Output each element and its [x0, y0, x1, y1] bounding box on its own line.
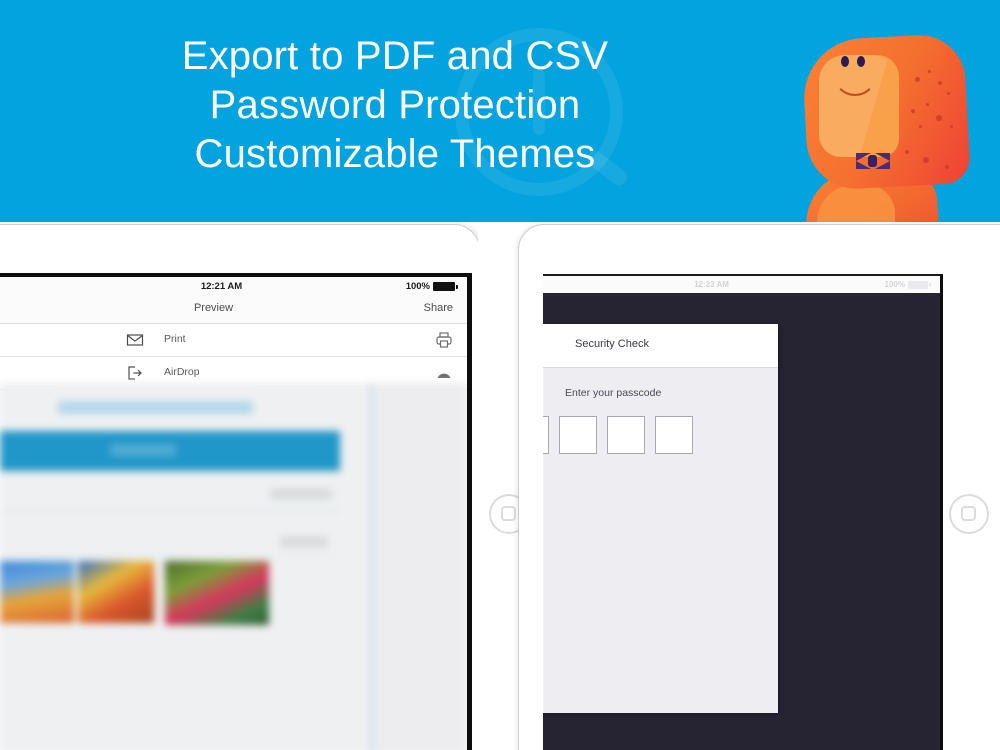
mascot-right-eye-icon [857, 56, 865, 67]
document-cell-chip [270, 489, 332, 499]
share-row-print[interactable]: Print [0, 324, 467, 357]
mascot-freckle [938, 81, 942, 85]
device-gap [478, 224, 518, 750]
document-sheet [0, 383, 373, 750]
airdrop-icon [435, 364, 453, 382]
banner-headline: Export to PDF and CSV Password Protectio… [0, 32, 790, 179]
right-status-battery: 100% [885, 280, 928, 289]
mascot-freckle [947, 92, 950, 95]
page-title: Preview [0, 302, 427, 314]
mascot-freckle [950, 125, 953, 128]
export-arrow-icon [126, 364, 144, 382]
security-check-dialog: Security Check Enter your passcode [543, 324, 778, 713]
photo-thumbnail [0, 561, 74, 623]
document-preview[interactable] [0, 383, 467, 750]
mascot-freckle [915, 77, 920, 82]
mascot-freckle [919, 125, 922, 128]
right-status-time: 12:23 AM [543, 280, 880, 289]
photo-thumbnail [165, 561, 269, 625]
share-button[interactable]: Share [424, 302, 453, 314]
dialog-header: Security Check [543, 324, 778, 368]
left-battery-percent: 100% [406, 281, 430, 292]
share-row-label: AirDrop [164, 366, 200, 378]
banner-line-2: Password Protection [0, 81, 790, 130]
mascot-left-eye-icon [841, 56, 849, 67]
banner-line-3: Customizable Themes [0, 130, 790, 179]
passcode-prompt: Enter your passcode [565, 387, 661, 399]
passcode-digit-1[interactable] [543, 416, 549, 454]
right-tablet-screen: 12:23 AM 100% Security Check Enter your … [543, 274, 943, 750]
document-row-divider [0, 513, 340, 514]
passcode-input-group[interactable] [543, 416, 693, 454]
mascot-freckle [911, 109, 915, 113]
printer-icon [435, 331, 453, 349]
left-nav-bar: Preview Share [0, 296, 467, 324]
battery-full-icon [433, 282, 455, 291]
right-status-bar: 12:23 AM 100% [543, 276, 940, 293]
feature-banner: Export to PDF and CSV Password Protectio… [0, 0, 1000, 222]
mascot-bowtie-knot [868, 155, 877, 167]
mascot-face [819, 55, 899, 157]
mascot-freckle [926, 103, 929, 106]
left-status-time: 12:21 AM [0, 281, 443, 292]
mascot-freckle [936, 115, 942, 121]
mascot-freckle [928, 70, 931, 73]
document-header-band [0, 431, 340, 471]
mascot-freckle [923, 157, 929, 163]
document-cell-chip [280, 537, 328, 547]
left-tablet-screen: 12:21 AM 100% Preview Share Print [0, 273, 472, 750]
share-row-label: Print [164, 333, 186, 345]
orange-mascot [795, 25, 1000, 222]
document-title-placeholder [58, 401, 253, 414]
left-status-bar: 12:21 AM 100% [0, 277, 467, 296]
share-sheet-list: Print AirDrop [0, 324, 467, 390]
mascot-freckle [945, 165, 949, 169]
battery-full-icon [908, 281, 928, 289]
dialog-title: Security Check [575, 338, 649, 350]
app-store-screenshot: Export to PDF and CSV Password Protectio… [0, 0, 1000, 750]
passcode-digit-3[interactable] [607, 416, 645, 454]
envelope-icon [126, 331, 144, 349]
passcode-digit-2[interactable] [559, 416, 597, 454]
mascot-freckle [905, 150, 909, 154]
banner-line-1: Export to PDF and CSV [0, 32, 790, 81]
document-row-divider [0, 509, 340, 510]
right-home-button-icon[interactable] [949, 494, 989, 534]
document-row-divider [0, 555, 340, 556]
right-battery-percent: 100% [885, 280, 905, 289]
left-status-battery: 100% [406, 281, 455, 292]
photo-thumbnail [78, 561, 154, 623]
passcode-digit-4[interactable] [655, 416, 693, 454]
